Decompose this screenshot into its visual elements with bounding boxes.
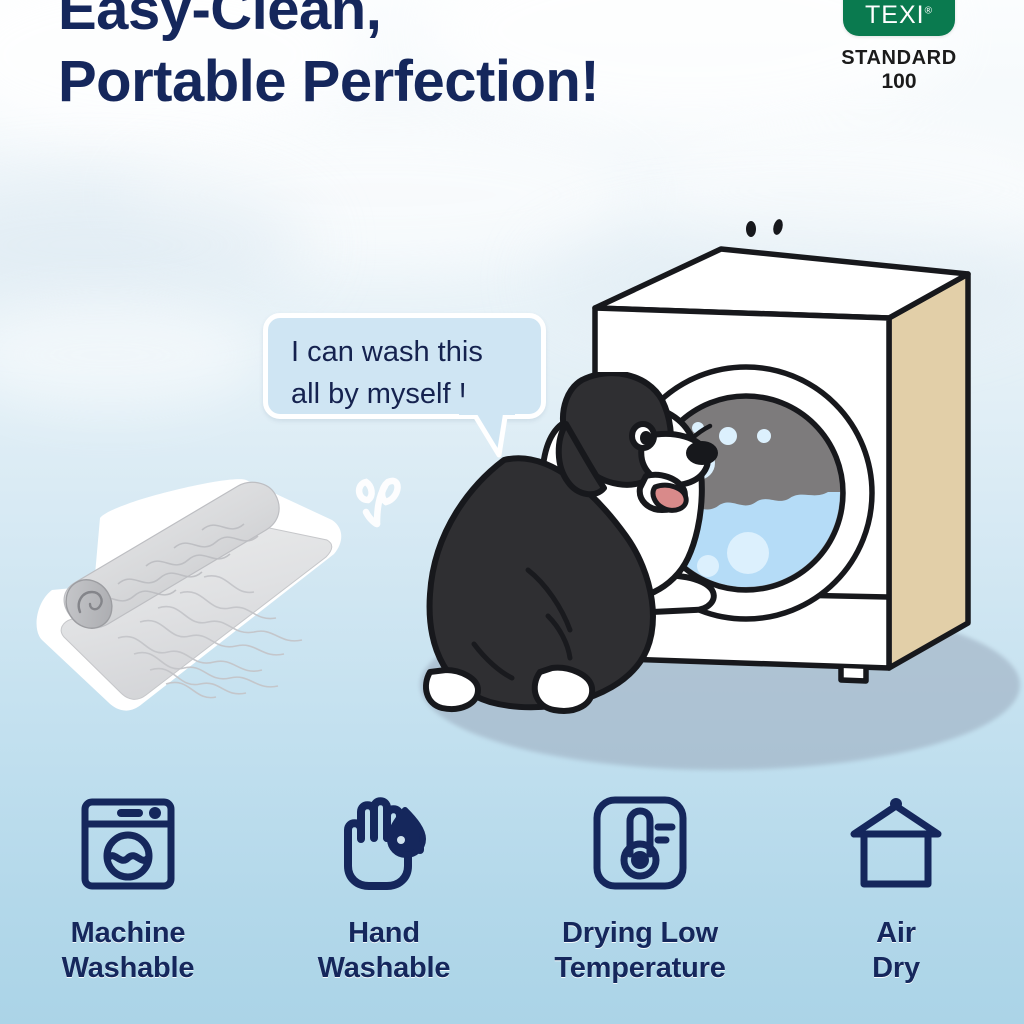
care-label-machine-washable: Machine Washable <box>62 916 195 986</box>
headline-line-2: Portable Perfection! <box>58 46 798 118</box>
certification-standard-number: 100 <box>836 70 962 94</box>
dog-pupil <box>640 431 652 445</box>
care-item-hand-washable[interactable]: Hand Washable <box>256 790 512 986</box>
care-label-line-1: Hand <box>318 916 451 951</box>
steam-dots <box>746 218 784 237</box>
washing-machine-icon <box>75 790 181 898</box>
washer-side-panel <box>889 274 968 668</box>
care-label-line-2: Temperature <box>554 951 725 986</box>
dog-rear-paw <box>426 670 478 709</box>
low-temperature-icon <box>588 790 692 898</box>
dog-tongue <box>653 485 686 510</box>
speech-bubble-text: I can wash this all by myself ! <box>268 318 541 415</box>
certification-brand: TEXI® <box>865 1 933 36</box>
certification-chip: TEXI® <box>843 0 955 36</box>
cloud-wisp <box>0 180 310 310</box>
care-label-line-2: Washable <box>62 951 195 986</box>
care-label-line-1: Air <box>872 916 920 951</box>
dog-illustration <box>412 372 758 746</box>
dog-nose <box>686 441 718 465</box>
certification-standard-label: STANDARD <box>836 46 962 70</box>
care-label-line-1: Drying Low <box>554 916 725 951</box>
care-item-machine-washable[interactable]: Machine Washable <box>0 790 256 986</box>
care-item-air-dry[interactable]: Air Dry <box>768 790 1024 986</box>
care-label-hand-washable: Hand Washable <box>318 916 451 986</box>
care-label-line-2: Washable <box>318 951 451 986</box>
care-label-line-1: Machine <box>62 916 195 951</box>
registered-mark-icon: ® <box>925 6 933 17</box>
care-label-drying-low-temperature: Drying Low Temperature <box>554 916 725 986</box>
leaf-sprout-icon <box>332 452 422 542</box>
promo-poster: Easy-Clean, Portable Perfection! TEXI® S… <box>0 0 1024 1024</box>
hand-wash-icon <box>329 790 439 898</box>
certification-badge: TEXI® STANDARD 100 <box>836 0 962 94</box>
washer-foot <box>841 668 866 681</box>
care-instructions-row: Machine Washable H <box>0 790 1024 1024</box>
care-item-drying-low-temperature[interactable]: Drying Low Temperature <box>512 790 768 986</box>
headline: Easy-Clean, Portable Perfection! <box>58 0 798 118</box>
care-label-line-2: Dry <box>872 951 920 986</box>
rolled-pet-mat-illustration <box>22 462 352 714</box>
cloud-wisp <box>0 300 260 410</box>
dog-mid-paw <box>535 668 592 711</box>
care-label-air-dry: Air Dry <box>872 916 920 986</box>
cloud-wisp <box>120 120 640 270</box>
speech-line-2: all by myself ! <box>291 373 541 415</box>
headline-line-1: Easy-Clean, <box>58 0 798 46</box>
speech-bubble: I can wash this all by myself ! <box>263 313 546 419</box>
speech-line-1: I can wash this <box>291 331 541 373</box>
air-dry-icon <box>844 790 948 898</box>
